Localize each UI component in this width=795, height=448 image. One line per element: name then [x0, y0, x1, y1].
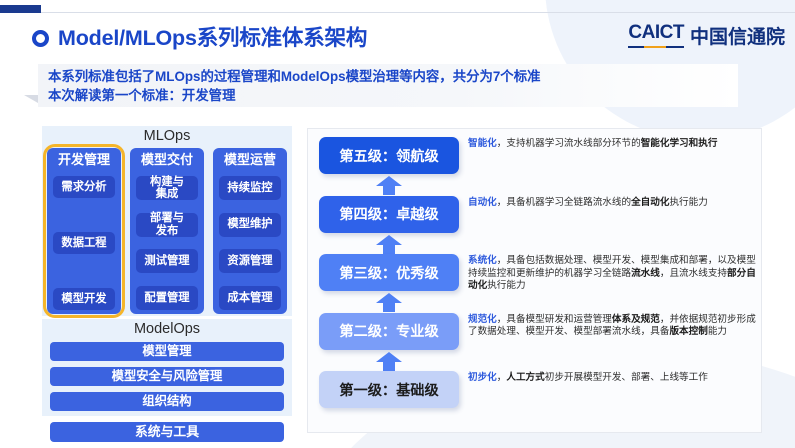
logo-underline: [628, 46, 684, 49]
subtitle-text-block: 本系列标准包括了MLOps的过程管理和ModelOps模型治理等内容，共分为7个…: [48, 67, 540, 105]
maturity-level-box[interactable]: 第五级：领航级: [319, 137, 459, 174]
maturity-level-label: 第三级：优秀级: [339, 263, 438, 283]
mlops-chip[interactable]: 配置管理: [136, 286, 198, 310]
slide-canvas: Model/MLOps系列标准体系架构 CAICT 中国信通院 本系列标准包括了…: [0, 0, 795, 448]
logo-abbr-label: CAICT: [628, 22, 684, 43]
mlops-column-header: 模型交付: [130, 148, 204, 172]
description-segment: 智能化: [468, 138, 497, 149]
upward-arrow-icon: [375, 235, 403, 254]
maturity-level-box[interactable]: 第三级：优秀级: [319, 254, 459, 291]
maturity-level-label: 第五级：领航级: [339, 146, 438, 166]
system-and-tools-bar[interactable]: 系统与工具: [50, 422, 284, 442]
modelops-group-box: ModelOps 模型管理模型安全与风险管理组织结构: [42, 319, 292, 416]
mlops-chip-label: 模型开发: [61, 293, 106, 306]
mlops-column-1[interactable]: 开发管理需求分析数据工程模型开发: [47, 148, 121, 314]
description-segment: 执行能力: [669, 197, 707, 208]
description-segment: 初步化: [468, 372, 497, 383]
modelops-item-bar[interactable]: 模型管理: [50, 342, 284, 361]
mlops-column-header: 开发管理: [47, 148, 121, 172]
mlops-chip[interactable]: 模型维护: [219, 213, 281, 237]
mlops-chip[interactable]: 测试管理: [136, 249, 198, 273]
mlops-chip-label: 测试管理: [144, 255, 189, 268]
mlops-chip-label: 模型维护: [227, 218, 272, 231]
description-segment: 自动化: [468, 197, 497, 208]
mlops-chip-label: 数据工程: [61, 237, 106, 250]
upward-arrow-icon: [375, 293, 403, 312]
mlops-chip[interactable]: 数据工程: [53, 232, 115, 254]
mlops-column-header: 模型运营: [213, 148, 287, 172]
modelops-item-bar[interactable]: 模型安全与风险管理: [50, 367, 284, 386]
caict-logo: CAICT 中国信通院: [628, 22, 785, 48]
description-segment: 体系及规范: [612, 314, 660, 325]
mlops-chip-label: 集成: [156, 188, 179, 201]
ring-icon: [32, 30, 49, 47]
description-segment: ，且流水线支持: [660, 268, 727, 279]
maturity-level-row: 第二级：专业级规范化，具备模型研发和运营管理体系及规范，并依据规范初步形成了数据…: [308, 313, 763, 372]
mlops-chip[interactable]: 需求分析: [53, 176, 115, 198]
description-segment: 初步开展模型开发、部署、上线等工作: [545, 372, 708, 383]
maturity-level-label: 第一级：基础级: [339, 380, 438, 400]
mlops-architecture-panel: MLOps 开发管理需求分析数据工程模型开发模型交付构建与集成部署与发布测试管理…: [42, 126, 292, 444]
mlops-chip-label: 部署与: [150, 212, 184, 225]
modelops-group-title: ModelOps: [42, 321, 292, 337]
subtitle-banner: 本系列标准包括了MLOps的过程管理和ModelOps模型治理等内容，共分为7个…: [38, 64, 738, 107]
maturity-level-box[interactable]: 第四级：卓越级: [319, 196, 459, 233]
mlops-group-box: MLOps 开发管理需求分析数据工程模型开发模型交付构建与集成部署与发布测试管理…: [42, 126, 292, 316]
maturity-level-row: 第五级：领航级智能化，支持机器学习流水线部分环节的智能化学习和执行: [308, 137, 763, 196]
mlops-chip-label: 成本管理: [227, 292, 272, 305]
subtitle-line-2: 本次解读第一个标准：开发管理: [48, 86, 540, 105]
mlops-chip-label: 资源管理: [227, 255, 272, 268]
maturity-level-label: 第四级：卓越级: [339, 204, 438, 224]
maturity-level-row: 第一级：基础级初步化，人工方式初步开展模型开发、部署、上线等工作: [308, 371, 763, 430]
mlops-chip[interactable]: 模型开发: [53, 288, 115, 310]
maturity-level-row: 第四级：卓越级自动化，具备机器学习全链路流水线的全自动化执行能力: [308, 196, 763, 255]
top-accent-bar: [0, 5, 41, 13]
mlops-group-title: MLOps: [42, 128, 292, 144]
description-segment: 版本控制: [669, 326, 707, 337]
mlops-chip[interactable]: 部署与发布: [136, 213, 198, 237]
maturity-level-row: 第三级：优秀级系统化，具备包括数据处理、模型开发、模型集成和部署，以及模型持续监…: [308, 254, 763, 313]
description-segment: ，具备机器学习全链路流水线的: [497, 197, 631, 208]
top-divider-line: [41, 12, 795, 13]
mlops-chip[interactable]: 成本管理: [219, 286, 281, 310]
upward-arrow-icon: [375, 352, 403, 371]
subtitle-banner-tail: [24, 95, 38, 103]
subtitle-line-1: 本系列标准包括了MLOps的过程管理和ModelOps模型治理等内容，共分为7个…: [48, 67, 540, 86]
mlops-chip[interactable]: 资源管理: [219, 249, 281, 273]
description-segment: ，: [497, 372, 507, 383]
mlops-chip-label: 发布: [156, 225, 179, 238]
description-segment: 能力: [708, 326, 727, 337]
description-segment: ，支持机器学习流水线部分环节的: [497, 138, 641, 149]
mlops-column-3[interactable]: 模型运营持续监控模型维护资源管理成本管理: [213, 148, 287, 314]
mlops-column-2[interactable]: 模型交付构建与集成部署与发布测试管理配置管理: [130, 148, 204, 314]
description-segment: 规范化: [468, 314, 497, 325]
description-segment: 流水线: [631, 268, 660, 279]
maturity-level-description: 智能化，支持机器学习流水线部分环节的智能化学习和执行: [468, 138, 756, 151]
description-segment: 系统化: [468, 255, 497, 266]
mlops-chip-label: 配置管理: [144, 292, 189, 305]
maturity-levels-panel: 第五级：领航级智能化，支持机器学习流水线部分环节的智能化学习和执行第四级：卓越级…: [307, 128, 762, 433]
maturity-level-box[interactable]: 第一级：基础级: [319, 371, 459, 408]
description-segment: 执行能力: [487, 280, 525, 291]
mlops-chip-label: 构建与: [150, 176, 184, 189]
upward-arrow-icon: [375, 176, 403, 195]
maturity-level-description: 系统化，具备包括数据处理、模型开发、模型集成和部署，以及模型持续监控和更新维护的…: [468, 255, 756, 293]
maturity-level-description: 自动化，具备机器学习全链路流水线的全自动化执行能力: [468, 197, 756, 210]
logo-name-label: 中国信通院: [690, 22, 785, 49]
mlops-chip-label: 持续监控: [227, 182, 272, 195]
mlops-chip-label: 需求分析: [61, 181, 106, 194]
modelops-item-bar[interactable]: 组织结构: [50, 392, 284, 411]
page-title: Model/MLOps系列标准体系架构: [58, 21, 367, 52]
maturity-level-description: 规范化，具备模型研发和运营管理体系及规范，并依据规范初步形成了数据处理、模型开发…: [468, 314, 756, 339]
maturity-level-description: 初步化，人工方式初步开展模型开发、部署、上线等工作: [468, 372, 756, 385]
description-segment: 全自动化: [631, 197, 669, 208]
maturity-level-box[interactable]: 第二级：专业级: [319, 313, 459, 350]
maturity-level-label: 第二级：专业级: [339, 321, 438, 341]
mlops-chip[interactable]: 持续监控: [219, 176, 281, 200]
mlops-chip[interactable]: 构建与集成: [136, 176, 198, 200]
description-segment: ，具备模型研发和运营管理: [497, 314, 612, 325]
description-segment: 智能化学习和执行: [641, 138, 718, 149]
logo-abbr-text: CAICT: [628, 22, 684, 48]
description-segment: 人工方式: [506, 372, 544, 383]
